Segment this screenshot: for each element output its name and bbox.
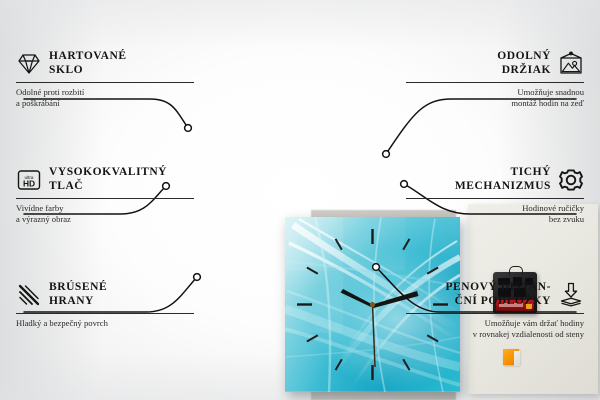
- feature-description: Hodinové ručičky bez zvuku: [406, 203, 584, 224]
- ultra-hd-badge-icon: ultra HD: [16, 167, 42, 193]
- mechanism-hanger-icon: [509, 266, 523, 275]
- feature-description: Odolné proti rozbití a poškrábání: [16, 87, 194, 108]
- ground-edges-icon: [16, 282, 42, 308]
- feature-durable-holder: ODOLNÝ DRŽIAK Umožňuje snadnou montáž ho…: [406, 50, 584, 108]
- divider: [16, 313, 194, 314]
- second-hand: [373, 305, 376, 368]
- clock-center-cap: [370, 302, 375, 307]
- arrow-onto-stack-icon: [558, 282, 584, 308]
- feature-description: Hladký a bezpečný povrch: [16, 318, 194, 329]
- feature-title: TICHÝ MECHANIZMUS: [455, 166, 551, 193]
- feature-description: Umožňuje snadnou montáž hodin na zeď: [406, 87, 584, 108]
- feature-hardened-glass: HARTOVANÉ SKLO Odolné proti rozbití a po…: [16, 50, 194, 108]
- divider: [406, 198, 584, 199]
- foam-spacer-pad: [503, 349, 519, 365]
- divider: [406, 82, 584, 83]
- feature-description: Umožňuje vám držať hodiny v rovnakej vzd…: [406, 318, 584, 339]
- hour-hand: [341, 289, 373, 307]
- divider: [16, 198, 194, 199]
- feature-title: HARTOVANÉ SKLO: [49, 50, 127, 77]
- feature-ground-edges: BRÚSENÉ HRANY Hladký a bezpečný povrch: [16, 281, 194, 329]
- badge-hd-label: HD: [23, 178, 35, 188]
- feature-high-quality-print: ultra HD VYSOKOKVALITNÝ TLAČ Vivídne far…: [16, 166, 194, 224]
- divider: [406, 313, 584, 314]
- diamond-icon: [16, 51, 42, 77]
- feature-silent-mechanism: TICHÝ MECHANIZMUS Hodinové ručičky bez z…: [406, 166, 584, 224]
- feature-title: VYSOKOKVALITNÝ TLAČ: [49, 166, 167, 193]
- divider: [16, 82, 194, 83]
- feature-description: Vivídne farby a výrazný obraz: [16, 203, 194, 224]
- infographic-canvas: HARTOVANÉ SKLO Odolné proti rozbití a po…: [0, 0, 600, 400]
- gear-icon: [558, 167, 584, 193]
- feature-title: ODOLNÝ DRŽIAK: [497, 50, 551, 77]
- picture-frame-icon: [558, 51, 584, 77]
- feature-foam-spacers: PENOVÝ DISTAN- ČNÍ PODLOŽKY Umožňuje vám…: [406, 281, 584, 339]
- feature-title: BRÚSENÉ HRANY: [49, 281, 107, 308]
- feature-title: PENOVÝ DISTAN- ČNÍ PODLOŽKY: [445, 281, 551, 308]
